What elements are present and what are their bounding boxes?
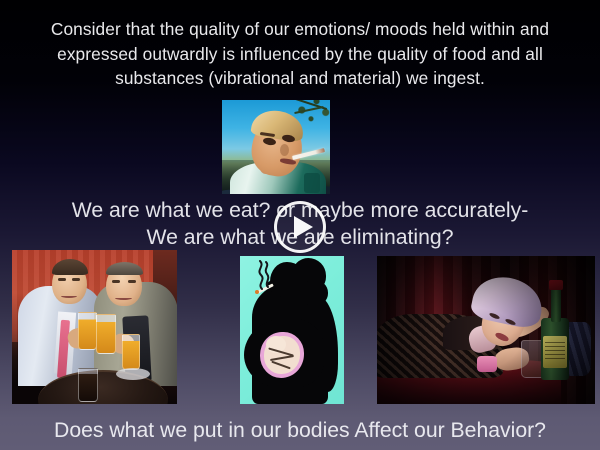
smoke-icon	[253, 260, 273, 290]
man-right-eye-right	[128, 280, 136, 283]
beer-glass	[78, 312, 97, 350]
beer-glass	[96, 314, 116, 354]
beer-glass	[122, 334, 140, 370]
vignette-overlay	[377, 256, 595, 404]
image-two-men-toasting-beer-in-pub	[12, 250, 177, 404]
play-button[interactable]	[274, 201, 326, 253]
play-triangle-icon	[294, 216, 313, 238]
image-woman-slumped-with-wine-bottle	[377, 256, 595, 404]
nose	[280, 144, 289, 156]
jersey-number	[304, 173, 320, 193]
coaster	[116, 368, 150, 380]
bottom-caption: Does what we put in our bodies Affect ou…	[0, 417, 600, 444]
image-pregnant-silhouette-smoking	[240, 256, 344, 404]
image-young-man-smoking-cigarette	[222, 100, 330, 194]
silhouette-hair-bun	[300, 280, 328, 306]
cigarette-ember	[255, 290, 259, 294]
man-left-eye-right	[72, 278, 80, 281]
slide-canvas: Consider that the quality of our emotion…	[0, 0, 600, 450]
page-title: Consider that the quality of our emotion…	[0, 17, 600, 91]
man-right-eye-left	[112, 280, 120, 283]
dark-drink-glass	[78, 368, 98, 402]
man-right-smile	[115, 296, 132, 300]
man-left-smile	[61, 294, 77, 298]
man-left-eye-left	[58, 278, 66, 281]
